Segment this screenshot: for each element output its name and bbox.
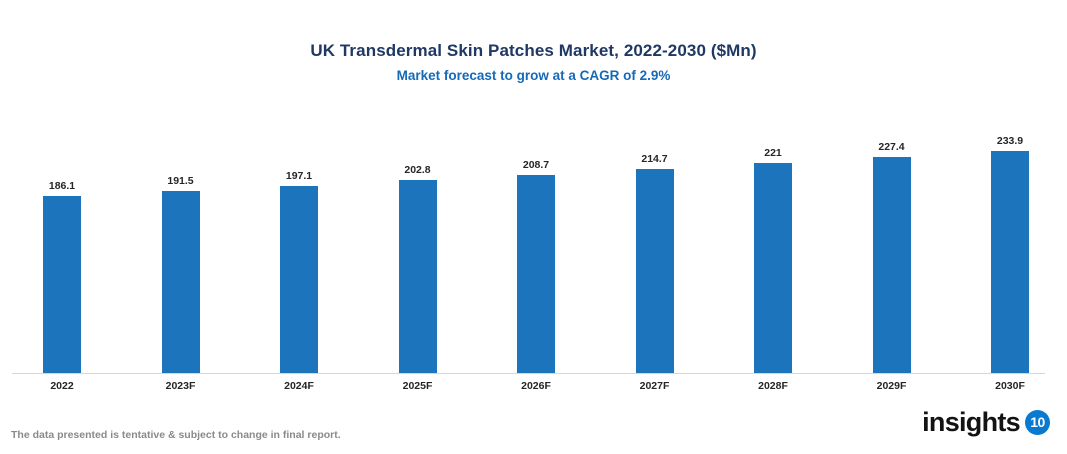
insights10-logo: insights 10 <box>922 406 1050 438</box>
bar-rect[interactable] <box>399 180 437 373</box>
x-axis-tick-label: 2023F <box>162 380 200 392</box>
bar-value-label: 208.7 <box>517 159 555 171</box>
x-axis-tick-label: 2024F <box>280 380 318 392</box>
bar-rect[interactable] <box>754 163 792 373</box>
bar-rect[interactable] <box>873 157 911 373</box>
x-axis-tick-label: 2030F <box>991 380 1029 392</box>
x-axis-tick-label: 2028F <box>754 380 792 392</box>
bar-rect[interactable] <box>636 169 674 373</box>
plot-area: 186.12022191.52023F197.12024F202.82025F2… <box>0 0 1067 454</box>
bar-group: 186.12022 <box>43 0 161 454</box>
bar-rect[interactable] <box>517 175 555 373</box>
bar-group: 202.82025F <box>399 0 517 454</box>
bar-group: 233.92030F <box>991 0 1067 454</box>
logo-badge-icon: 10 <box>1025 410 1050 435</box>
bar-group: 208.72026F <box>517 0 635 454</box>
bar-value-label: 186.1 <box>43 180 81 192</box>
bar-value-label: 191.5 <box>162 175 200 187</box>
x-axis-tick-label: 2026F <box>517 380 555 392</box>
bar-value-label: 202.8 <box>399 164 437 176</box>
x-axis-tick-label: 2029F <box>873 380 911 392</box>
x-axis-line <box>12 373 1045 374</box>
bar-value-label: 233.9 <box>991 135 1029 147</box>
bar-group: 214.72027F <box>636 0 754 454</box>
disclaimer-note: The data presented is tentative & subjec… <box>11 429 341 441</box>
bar-value-label: 227.4 <box>873 141 911 153</box>
x-axis-tick-label: 2027F <box>636 380 674 392</box>
x-axis-tick-label: 2025F <box>399 380 437 392</box>
bar-rect[interactable] <box>991 151 1029 373</box>
logo-wordmark: insights <box>922 409 1020 436</box>
bar-group: 197.12024F <box>280 0 398 454</box>
bar-rect[interactable] <box>280 186 318 373</box>
bar-rect[interactable] <box>43 196 81 373</box>
bar-value-label: 197.1 <box>280 170 318 182</box>
bar-value-label: 214.7 <box>636 153 674 165</box>
bar-rect[interactable] <box>162 191 200 373</box>
bar-value-label: 221 <box>754 147 792 159</box>
bar-chart-figure: UK Transdermal Skin Patches Market, 2022… <box>0 0 1067 454</box>
bar-group: 191.52023F <box>162 0 280 454</box>
bar-group: 227.42029F <box>873 0 991 454</box>
bar-group: 2212028F <box>754 0 872 454</box>
x-axis-tick-label: 2022 <box>43 380 81 392</box>
